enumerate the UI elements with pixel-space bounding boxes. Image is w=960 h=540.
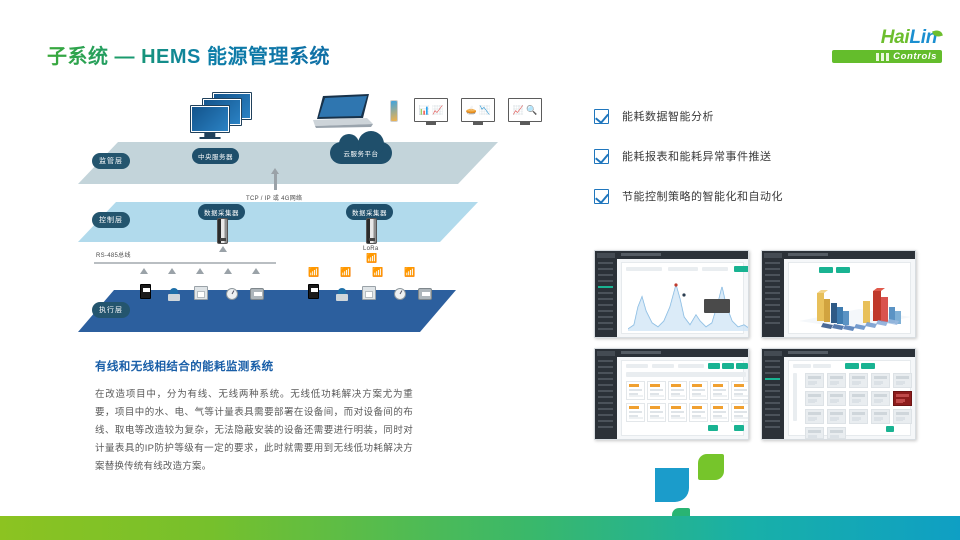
checklist-item-3[interactable]: 节能控制策略的智能化和自动化: [594, 188, 924, 204]
node-pill-cloud-platform: 云服务平台: [330, 148, 392, 158]
chart-monitor-icon-3: 📈 🔍: [508, 98, 542, 122]
checklist-item-1[interactable]: 能耗数据智能分析: [594, 108, 924, 124]
area-chart-icon: 📉: [479, 106, 490, 115]
bus-arrow-1: [140, 268, 148, 274]
screenshot-sidebar: [762, 251, 784, 337]
layer-tag-control: 控制层: [92, 212, 130, 228]
logo-hai-text: Hai: [881, 27, 910, 48]
brand-logo: HaiLin Controls: [832, 28, 942, 72]
screenshot-titlebar: [784, 349, 915, 357]
meter-electric-2: [308, 284, 319, 299]
uplink-arrow-head: [271, 168, 279, 174]
bus-arrow-2: [168, 268, 176, 274]
chart-monitor-icon-1: 📊 📈: [414, 98, 448, 122]
slide-root: 子系统 — HEMS 能源管理系统 HaiLin Controls 监管层 中央…: [0, 0, 960, 540]
meter-gas-2: [362, 286, 376, 300]
wifi-signal-icon-4: 📶: [404, 268, 415, 277]
bars-icon: [876, 53, 889, 61]
network-label: TCP / IP 或 4G网络: [246, 193, 302, 202]
checklist-item-3-label: 节能控制策略的智能化和自动化: [622, 188, 783, 204]
screenshot-sidebar: [762, 349, 784, 439]
screenshot-sidebar: [595, 251, 617, 337]
data-collector-device-wired: [217, 218, 228, 244]
bus-arrow-3: [196, 268, 204, 274]
uplink-arrow-stem: [274, 174, 277, 190]
checklist-item-1-label: 能耗数据智能分析: [622, 108, 714, 124]
screenshot-line-chart[interactable]: [594, 250, 749, 338]
description-heading: 有线和无线相结合的能耗监测系统: [95, 358, 413, 374]
meter-water-2: [336, 288, 348, 301]
logo-tagline-text: Controls: [893, 51, 937, 62]
area-chart-graphic: [628, 277, 749, 331]
bus-label: RS-485总线: [96, 250, 131, 259]
checklist-item-2-label: 能耗报表和能耗异常事件推送: [622, 148, 772, 164]
layer-tag-execution: 执行层: [92, 302, 130, 318]
description-body: 在改造项目中，分为有线、无线两种系统。无线低功耗解决方案尤为重要，项目中的水、电…: [95, 386, 413, 476]
data-collector-device-wireless: [366, 218, 377, 244]
meter-pressure-gauge-2: [394, 288, 406, 300]
description-block: 有线和无线相结合的能耗监测系统 在改造项目中，分为有线、无线两种系统。无线低功耗…: [95, 358, 413, 476]
screenshot-bar-3d[interactable]: [761, 250, 916, 338]
central-server-monitors: [186, 92, 256, 138]
logo-wordmark: HaiLin: [832, 28, 942, 47]
screenshot-titlebar: [784, 251, 915, 259]
wireless-label: LoRa: [363, 246, 379, 252]
checkbox-checked-icon[interactable]: [594, 109, 609, 124]
cloud-platform-node: 云服务平台: [330, 142, 392, 164]
page-title: 子系统 — HEMS 能源管理系统: [47, 40, 330, 69]
screenshot-titlebar: [617, 349, 748, 357]
trend-chart-icon: 📈: [513, 106, 524, 115]
decoration-square-blue: [655, 468, 689, 502]
lora-antenna-icon: 📶: [366, 254, 377, 263]
meter-pressure-gauge-1: [226, 288, 238, 300]
smartphone-icon: [390, 100, 398, 122]
bottom-gradient-bar: [0, 516, 960, 540]
meter-gas-1: [194, 286, 208, 300]
bus-arrow-5: [252, 268, 260, 274]
decoration-square-green: [698, 454, 724, 480]
meter-heat-2: [418, 288, 432, 300]
screenshot-canvas: [784, 259, 915, 337]
screenshot-canvas: [784, 357, 915, 439]
laptop-icon: [313, 94, 375, 137]
layer-control-plane: [78, 202, 478, 242]
meter-electric-1: [140, 284, 151, 299]
layer-tag-supervisory: 监管层: [92, 153, 130, 169]
screenshot-canvas: [617, 259, 748, 337]
screenshot-tile-grid[interactable]: [761, 348, 916, 440]
wifi-signal-icon-1: 📶: [308, 268, 319, 277]
screenshot-titlebar: [617, 251, 748, 259]
bar-chart-icon: 📊: [419, 106, 430, 115]
bar3d-chart-graphic: [793, 277, 916, 333]
meter-heat-1: [250, 288, 264, 300]
meter-water-1: [168, 288, 180, 301]
screenshot-card-grid[interactable]: [594, 348, 749, 440]
checklist-item-2[interactable]: 能耗报表和能耗异常事件推送: [594, 148, 924, 164]
wifi-signal-icon-3: 📶: [372, 268, 383, 277]
feature-checklist: 能耗数据智能分析 能耗报表和能耗异常事件推送 节能控制策略的智能化和自动化: [594, 108, 924, 228]
wifi-signal-icon-2: 📶: [340, 268, 351, 277]
rs485-bus-line: [94, 262, 276, 264]
magnifier-icon: 🔍: [526, 106, 537, 115]
bus-arrow-4: [224, 268, 232, 274]
checkbox-checked-icon[interactable]: [594, 189, 609, 204]
chart-monitor-icon-2: 🥧 📉: [461, 98, 495, 122]
node-pill-central-server: 中央服务器: [192, 148, 239, 164]
layer-supervisory-plane: [78, 142, 498, 184]
architecture-diagram: 监管层 中央服务器 📊 📈 🥧 📉: [78, 80, 548, 350]
bus-uplink-arrow: [219, 246, 227, 252]
pie-chart-icon: 🥧: [466, 106, 477, 115]
checkbox-checked-icon[interactable]: [594, 149, 609, 164]
screenshot-gallery: [594, 250, 924, 440]
screenshot-canvas: [617, 357, 748, 439]
line-chart-icon: 📈: [432, 106, 443, 115]
tile-alarm-state[interactable]: [893, 391, 912, 406]
logo-tagline-bar: Controls: [832, 50, 942, 63]
screenshot-sidebar: [595, 349, 617, 439]
page-title-text: 子系统 — HEMS 能源管理系统: [47, 40, 330, 69]
